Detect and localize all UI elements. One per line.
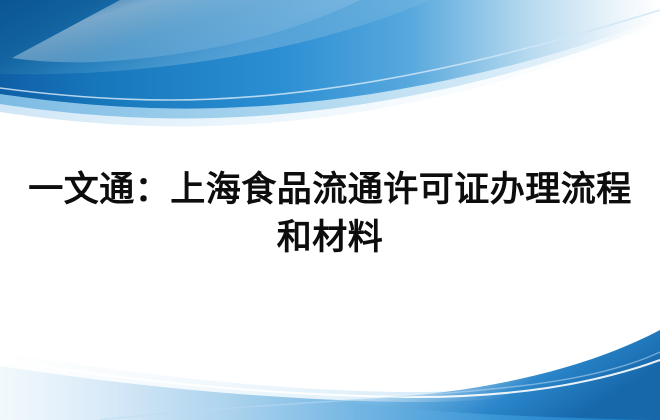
top-inner-curve-line (0, 10, 660, 100)
top-pale-underlayer (0, 0, 660, 127)
top-gloss-streak (12, 0, 360, 62)
top-hairline-curve (0, 0, 660, 119)
title-block: 一文通：上海食品流通许可证办理流程和材料 (0, 166, 660, 262)
top-blue-swoosh (0, 0, 660, 109)
top-navy-ribbon (0, 0, 430, 74)
page-title: 一文通：上海食品流通许可证办理流程和材料 (16, 166, 644, 262)
bottom-white-curve-line (0, 360, 660, 397)
bottom-accent-ribbon (340, 330, 660, 420)
bottom-inner-curve-line (100, 352, 660, 420)
bottom-pale-underlayer (0, 352, 660, 420)
bottom-blue-swoosh (0, 366, 660, 420)
slide-canvas: 一文通：上海食品流通许可证办理流程和材料 (0, 0, 660, 420)
